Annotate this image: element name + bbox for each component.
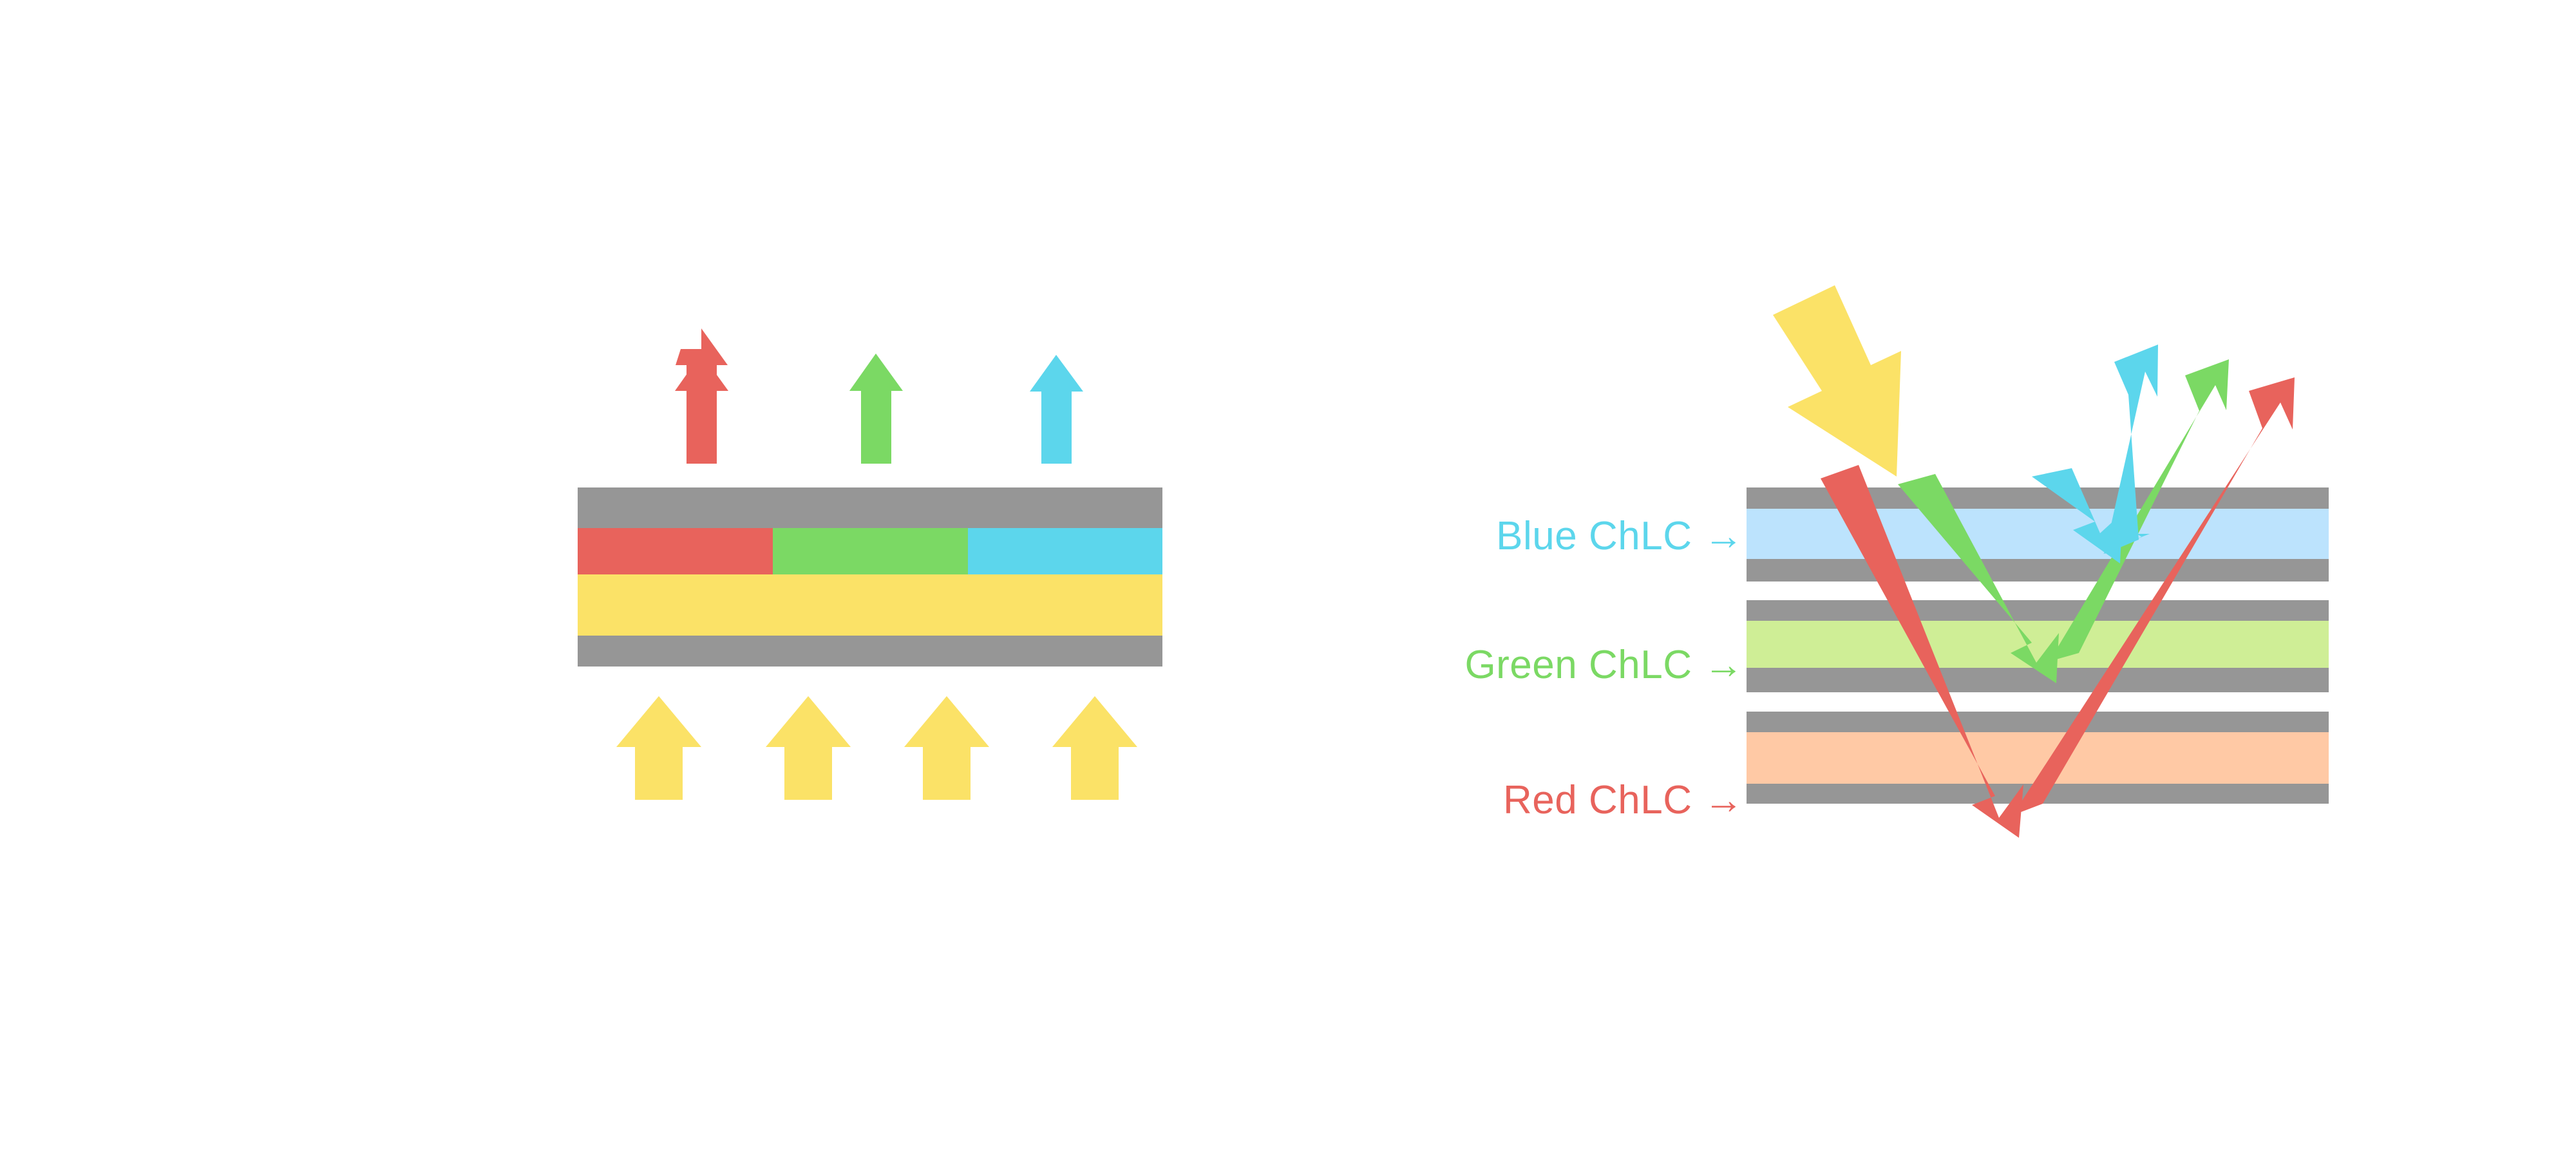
yellow-backlight-layer	[578, 574, 1162, 636]
blue-chlc-label: Blue ChLC→	[1409, 513, 1744, 559]
green-chlc-label-arrow-icon: →	[1692, 643, 1745, 687]
red-chlc-label: Red ChLC→	[1409, 777, 1744, 823]
chlc-display-diagram	[0, 0, 2576, 1154]
backlight-arrow-4	[1052, 696, 1137, 800]
green-chlc-label: Green ChLC→	[1370, 642, 1744, 688]
red-chlc-label-arrow-icon: →	[1692, 778, 1745, 822]
green-cell-bottom-electrode	[1747, 668, 2329, 692]
ambient-light-arrow	[1773, 285, 1901, 477]
blue-chlc-label-arrow-icon: →	[1692, 514, 1745, 558]
bottom-electrode-layer	[578, 636, 1162, 667]
red-cell-top-electrode	[1747, 712, 2329, 732]
diagram-canvas: Blue ChLC→ Green ChLC→ Red ChLC→	[0, 0, 2576, 1154]
cyan-filter-segment	[968, 528, 1162, 574]
emissive-stack-panel	[578, 328, 1162, 800]
green-chlc-cell	[1747, 600, 2329, 692]
green-chlc-label-text: Green ChLC	[1464, 643, 1692, 687]
backlight-arrow-1	[616, 696, 701, 800]
green-cell-top-electrode	[1747, 600, 2329, 621]
red-chlc-label-text: Red ChLC	[1503, 778, 1692, 822]
green-filter-segment	[773, 528, 968, 574]
cyan-emission-arrow	[1030, 355, 1083, 464]
green-emission-arrow	[849, 354, 903, 464]
red-emission-arrow-shape	[675, 354, 728, 464]
top-electrode-layer	[578, 487, 1162, 528]
blue-cell-medium	[1747, 509, 2329, 559]
red-filter-segment	[578, 528, 773, 574]
green-cell-medium	[1747, 621, 2329, 668]
backlight-arrow-3	[904, 696, 989, 800]
rgb-color-filter-layer	[578, 528, 1162, 574]
chlc-reflective-stack-panel	[1747, 285, 2329, 838]
blue-cell-bottom-electrode	[1747, 559, 2329, 582]
blue-chlc-label-text: Blue ChLC	[1496, 514, 1692, 558]
red-cell-medium	[1747, 732, 2329, 784]
backlight-arrow-2	[766, 696, 851, 800]
